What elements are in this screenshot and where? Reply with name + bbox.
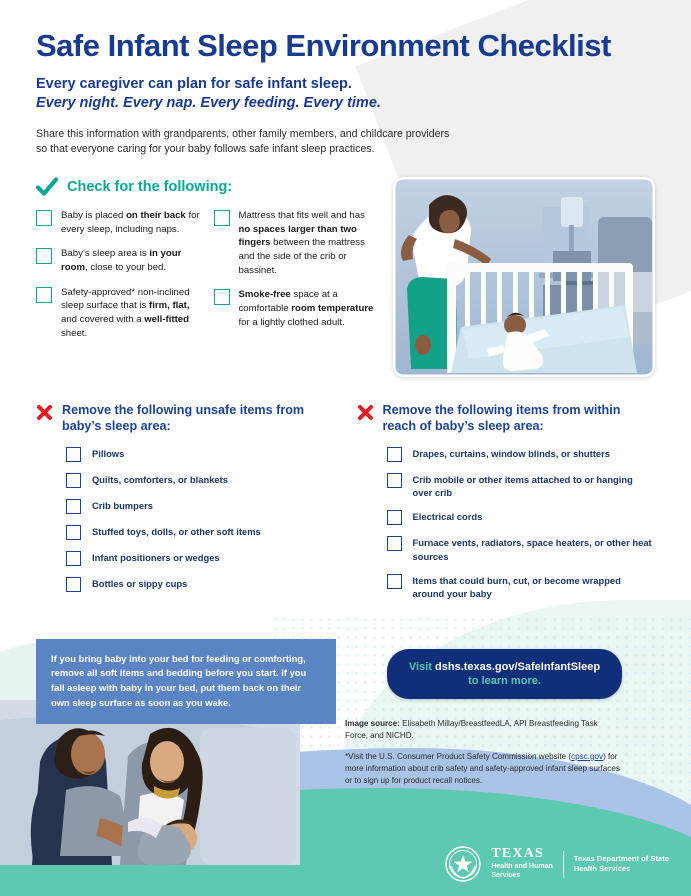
remove-item-label: Stuffed toys, dolls, or other soft items (92, 524, 261, 538)
check-list-item[interactable]: Baby’s sleep area is in your room, close… (36, 247, 202, 274)
cpsc-link[interactable]: cpsc.gov (571, 752, 603, 761)
cpsc-note-part-1: *Visit the U.S. Consumer Product Safety … (345, 752, 571, 761)
hhs-label: Health and Human Services (491, 863, 552, 881)
cta-primary-line: Visit dshs.texas.gov/SafeInfantSleep (409, 660, 600, 674)
check-section: Check for the following: Baby is placed … (36, 177, 655, 377)
remove-within-reach-list: Drapes, curtains, window blinds, or shut… (357, 446, 656, 601)
remove-item-label: Items that could burn, cut, or become wr… (413, 573, 656, 601)
remove-within-reach-title: Remove the following items from within r… (383, 403, 656, 434)
share-note-line-2: so that everyone caring for your baby fo… (36, 142, 655, 157)
remove-item-label: Bottles or sippy cups (92, 576, 187, 590)
cta-url: dshs.texas.gov/SafeInfantSleep (435, 661, 600, 673)
remove-list-item[interactable]: Bottles or sippy cups (66, 576, 335, 592)
visit-website-button[interactable]: Visit dshs.texas.gov/SafeInfantSleep to … (387, 649, 622, 700)
cta-visit-label: Visit (409, 661, 432, 673)
remove-list-item[interactable]: Items that could burn, cut, or become wr… (387, 573, 656, 601)
texas-label: TEXAS (491, 847, 552, 861)
remove-list-item[interactable]: Crib mobile or other items attached to o… (387, 472, 656, 500)
checkbox[interactable] (387, 536, 402, 551)
hhs-label-line-2: Services (491, 872, 552, 881)
checkbox[interactable] (214, 289, 230, 305)
check-list-item[interactable]: Baby is placed on their back for every s… (36, 209, 202, 236)
share-note-line-1: Share this information with grandparents… (36, 127, 655, 142)
family-photo (0, 700, 300, 865)
remove-item-label: Drapes, curtains, window blinds, or shut… (413, 446, 610, 460)
remove-unsafe-list: Pillows Quilts, comforters, or blankets … (36, 446, 335, 592)
cpsc-note: *Visit the U.S. Consumer Product Safety … (345, 751, 620, 787)
checkbox[interactable] (66, 447, 81, 462)
checkbox[interactable] (387, 473, 402, 488)
infographic-page: Safe Infant Sleep Environment Checklist … (0, 0, 691, 896)
check-mark-icon (36, 177, 58, 197)
remove-list-item[interactable]: Quilts, comforters, or blankets (66, 472, 335, 488)
page-header: Safe Infant Sleep Environment Checklist … (0, 0, 691, 157)
check-column-left: Baby is placed on their back for every s… (36, 209, 202, 351)
page-title: Safe Infant Sleep Environment Checklist (36, 30, 655, 63)
family-photo-illustration (0, 700, 300, 865)
texas-state-seal-icon (445, 846, 481, 882)
cta-container: Visit dshs.texas.gov/SafeInfantSleep to … (354, 639, 655, 700)
subtitle-primary: Every caregiver can plan for safe infant… (36, 76, 655, 92)
callout-and-cta: If you bring baby into your bed for feed… (36, 639, 655, 724)
subtitle-secondary: Every night. Every nap. Every feeding. E… (36, 95, 655, 111)
x-mark-icon (357, 404, 374, 421)
footnotes: Image source: Elisabeth Millay/Breastfee… (345, 718, 620, 796)
remove-sections: Remove the following unsafe items from b… (36, 403, 655, 611)
remove-item-label: Electrical cords (413, 509, 483, 523)
check-item-label: Baby is placed on their back for every s… (61, 209, 202, 236)
remove-item-label: Infant positioners or wedges (92, 550, 220, 564)
checkbox[interactable] (66, 499, 81, 514)
remove-item-label: Crib mobile or other items attached to o… (413, 472, 656, 500)
check-item-label: Safety-approved* non-inclined sleep surf… (61, 286, 202, 340)
remove-list-item[interactable]: Furnace vents, radiators, space heaters,… (387, 535, 656, 563)
remove-unsafe-header: Remove the following unsafe items from b… (36, 403, 335, 434)
remove-item-label: Quilts, comforters, or blankets (92, 472, 228, 486)
remove-list-item[interactable]: Pillows (66, 446, 335, 462)
checkbox[interactable] (66, 577, 81, 592)
checkbox[interactable] (387, 447, 402, 462)
remove-item-label: Pillows (92, 446, 124, 460)
check-list-item[interactable]: Mattress that fits well and has no space… (214, 209, 380, 277)
dshs-label: Texas Department of State Health Service… (574, 854, 669, 874)
texas-hhs-wordmark: TEXAS Health and Human Services (491, 847, 552, 881)
remove-list-item[interactable]: Drapes, curtains, window blinds, or shut… (387, 446, 656, 462)
check-item-label: Mattress that fits well and has no space… (239, 209, 380, 277)
checkbox[interactable] (36, 248, 52, 264)
texas-hhs-logo: TEXAS Health and Human Services Texas De… (445, 846, 669, 882)
remove-unsafe-title: Remove the following unsafe items from b… (62, 403, 335, 434)
x-mark-icon (36, 404, 53, 421)
remove-list-item[interactable]: Infant positioners or wedges (66, 550, 335, 566)
remove-item-label: Crib bumpers (92, 498, 153, 512)
remove-list-item[interactable]: Electrical cords (387, 509, 656, 525)
remove-item-label: Furnace vents, radiators, space heaters,… (413, 535, 656, 563)
checkbox[interactable] (66, 551, 81, 566)
check-column-right: Mattress that fits well and has no space… (214, 209, 380, 351)
checkbox[interactable] (387, 574, 402, 589)
remove-within-reach-header: Remove the following items from within r… (357, 403, 656, 434)
remove-list-item[interactable]: Crib bumpers (66, 498, 335, 514)
check-list-item[interactable]: Safety-approved* non-inclined sleep surf… (36, 286, 202, 340)
hhs-label-line-1: Health and Human (491, 863, 552, 872)
check-item-label: Baby’s sleep area is in your room, close… (61, 247, 202, 274)
checkbox[interactable] (214, 210, 230, 226)
checkbox[interactable] (36, 287, 52, 303)
checkbox[interactable] (387, 510, 402, 525)
crib-photo (393, 177, 655, 377)
dshs-label-line-2: Health Services (574, 864, 669, 874)
checkbox[interactable] (66, 473, 81, 488)
check-section-header: Check for the following: (36, 177, 379, 197)
check-section-title: Check for the following: (67, 179, 232, 195)
remove-unsafe-items-section: Remove the following unsafe items from b… (36, 403, 335, 611)
check-section-text: Check for the following: Baby is placed … (36, 177, 379, 377)
remove-within-reach-section: Remove the following items from within r… (357, 403, 656, 611)
bedsharing-callout: If you bring baby into your bed for feed… (36, 639, 336, 724)
remove-list-item[interactable]: Stuffed toys, dolls, or other soft items (66, 524, 335, 540)
checkbox[interactable] (66, 525, 81, 540)
cta-tagline: to learn more. (409, 674, 600, 688)
image-source-label: Image source: (345, 719, 400, 728)
dshs-label-line-1: Texas Department of State (574, 854, 669, 864)
checkbox[interactable] (36, 210, 52, 226)
image-source-note: Image source: Elisabeth Millay/Breastfee… (345, 718, 620, 742)
logo-divider (563, 851, 564, 878)
check-item-label: Smoke-free space at a comfortable room t… (239, 288, 380, 329)
share-note: Share this information with grandparents… (36, 127, 655, 158)
check-list-item[interactable]: Smoke-free space at a comfortable room t… (214, 288, 380, 329)
crib-photo-illustration (393, 177, 655, 377)
